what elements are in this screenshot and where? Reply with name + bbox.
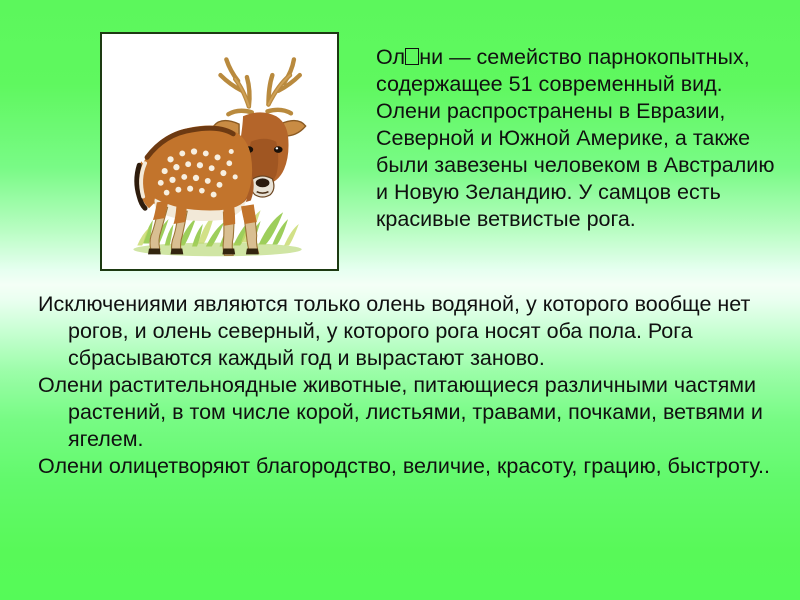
intro-word-prefix: Ол bbox=[376, 45, 405, 69]
list-item: Олени растительноядные животные, питающи… bbox=[38, 372, 780, 453]
missing-glyph-box bbox=[405, 48, 418, 66]
list-item: Олени олицетворяют благородство, величие… bbox=[38, 453, 780, 480]
body-paragraph-list: Исключениями являются только олень водян… bbox=[38, 291, 780, 480]
intro-paragraph: Олни — семейство парнокопытных, содержащ… bbox=[376, 44, 788, 233]
slide-canvas: Олни — семейство парнокопытных, содержащ… bbox=[0, 0, 800, 600]
list-item: Исключениями являются только олень водян… bbox=[38, 291, 780, 372]
intro-body-text: — семейство парнокопытных, содержащее 51… bbox=[376, 45, 774, 231]
deer-illustration-icon bbox=[102, 34, 337, 269]
intro-word-suffix: ни bbox=[419, 45, 443, 69]
deer-illustration-figure bbox=[100, 32, 339, 271]
